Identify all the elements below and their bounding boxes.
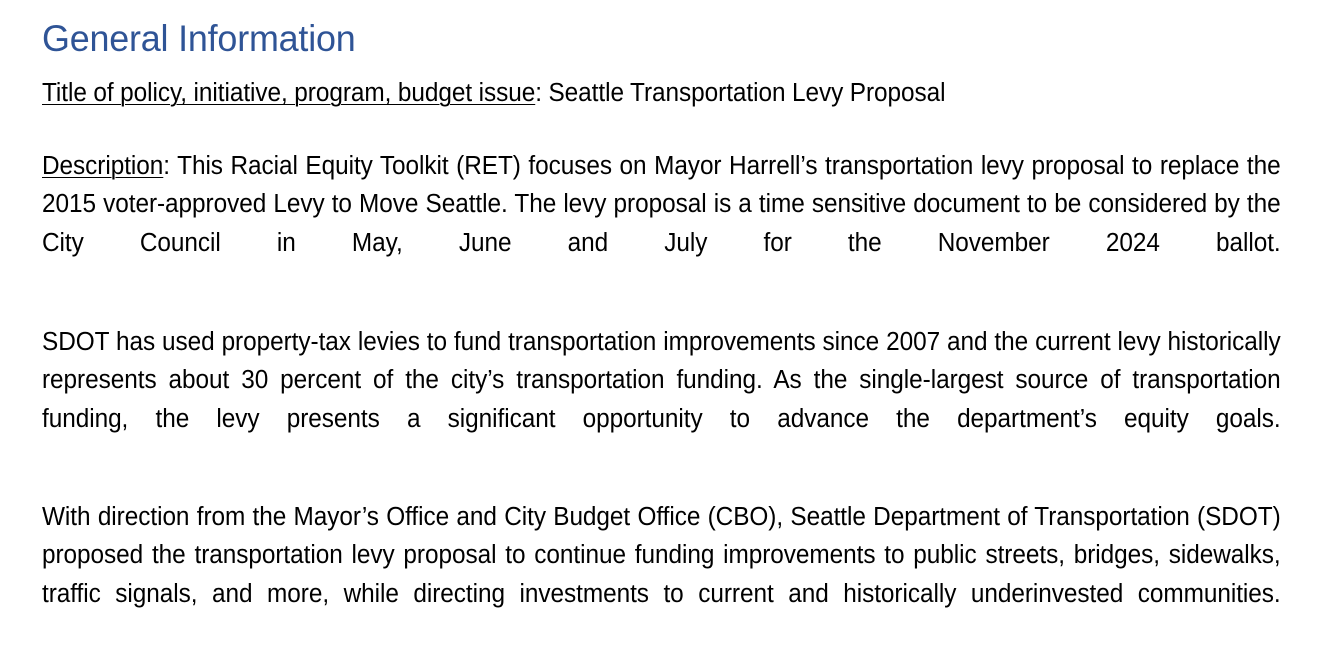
page-title: General Information [42, 0, 1245, 61]
document-page: General Information Title of policy, ini… [0, 0, 1322, 632]
description-text: This Racial Equity Toolkit (RET) focuses… [42, 152, 1281, 257]
spacer-before-description [42, 113, 1281, 147]
spacer-after-heading [42, 61, 1282, 74]
body-paragraph-mayor-direction: With direction from the Mayor’s Office a… [42, 498, 1281, 652]
title-line-separator: : [535, 79, 548, 107]
spacer-before-paragraph-2 [42, 477, 1281, 498]
body-paragraph-sdot-levies: SDOT has used property-tax levies to fun… [42, 323, 1281, 477]
title-line-label: Title of policy, initiative, program, bu… [42, 79, 535, 107]
description-separator: : [163, 152, 177, 180]
document-body: Title of policy, initiative, program, bu… [42, 74, 1281, 652]
description-label: Description [42, 152, 163, 180]
spacer-before-paragraph-1 [42, 301, 1281, 323]
title-line: Title of policy, initiative, program, bu… [42, 74, 1281, 113]
title-line-value: Seattle Transportation Levy Proposal [548, 79, 945, 107]
description-paragraph: Description: This Racial Equity Toolkit … [42, 147, 1281, 301]
